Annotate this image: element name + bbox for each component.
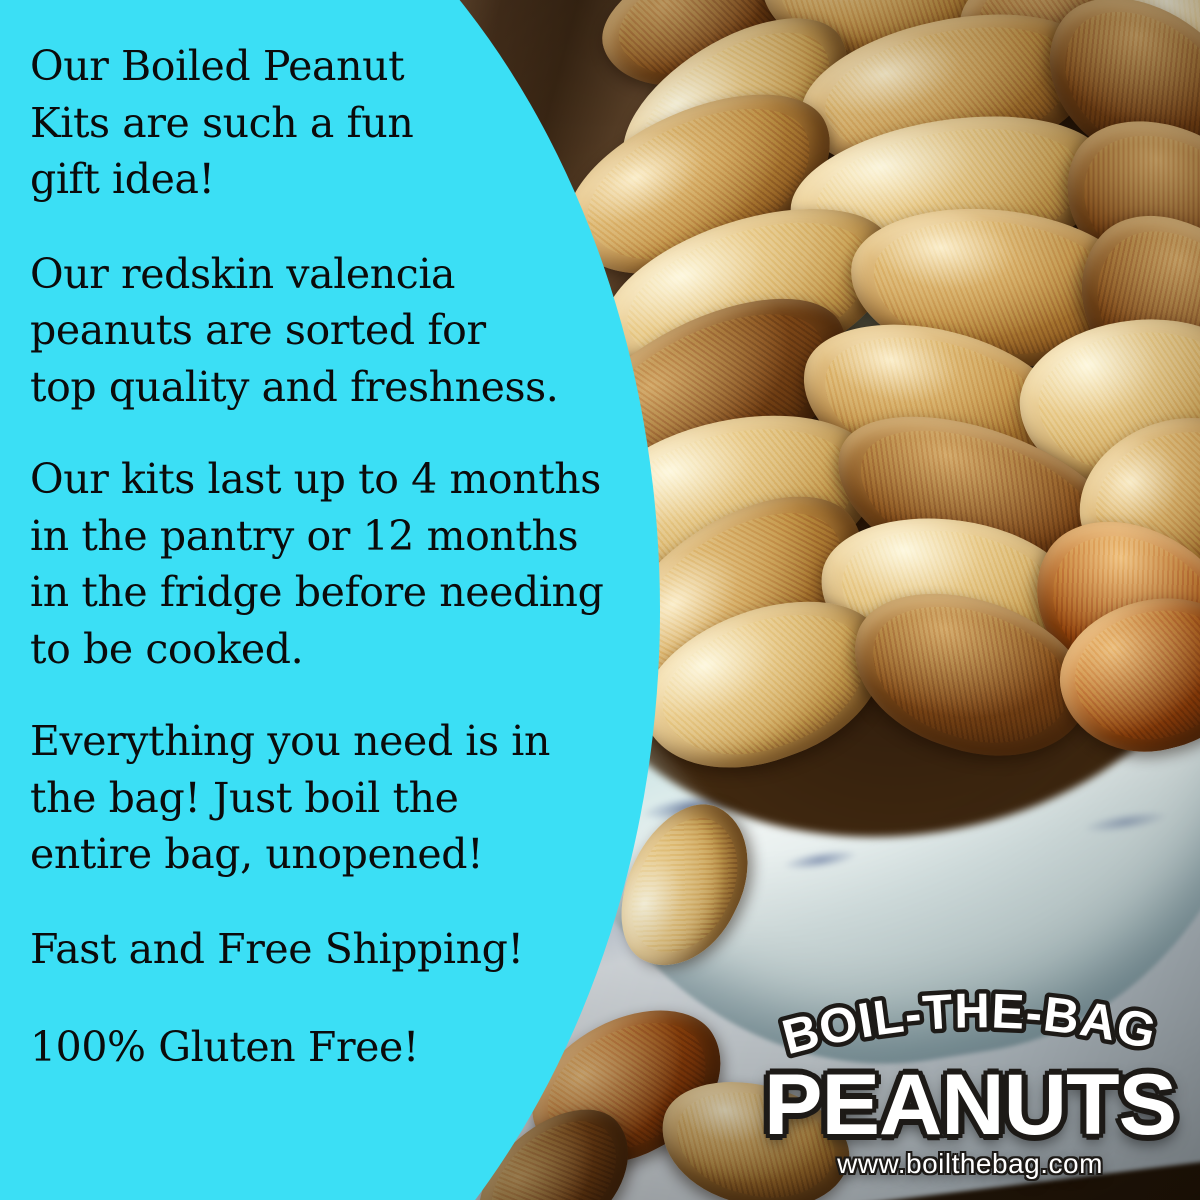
copy-paragraph: Fast and Free Shipping! <box>30 921 670 978</box>
copy-paragraph: Our Boiled Peanut Kits are such a fun gi… <box>30 38 670 208</box>
copy-paragraph: Everything you need is in the bag! Just … <box>30 713 670 883</box>
promo-poster: Our Boiled Peanut Kits are such a fun gi… <box>0 0 1200 1200</box>
copy-paragraph: Our redskin valencia peanuts are sorted … <box>30 246 670 416</box>
copy-paragraph: 100% Gluten Free! <box>30 1019 670 1076</box>
marketing-copy: Our Boiled Peanut Kits are such a fun gi… <box>30 38 670 1076</box>
logo-main-text: PEANUTS <box>748 1064 1193 1146</box>
brand-logo: BOIL-THE-BAG PEANUTS www.boilthebag.com <box>752 1000 1188 1190</box>
copy-paragraph: Our kits last up to 4 months in the pant… <box>30 451 670 677</box>
